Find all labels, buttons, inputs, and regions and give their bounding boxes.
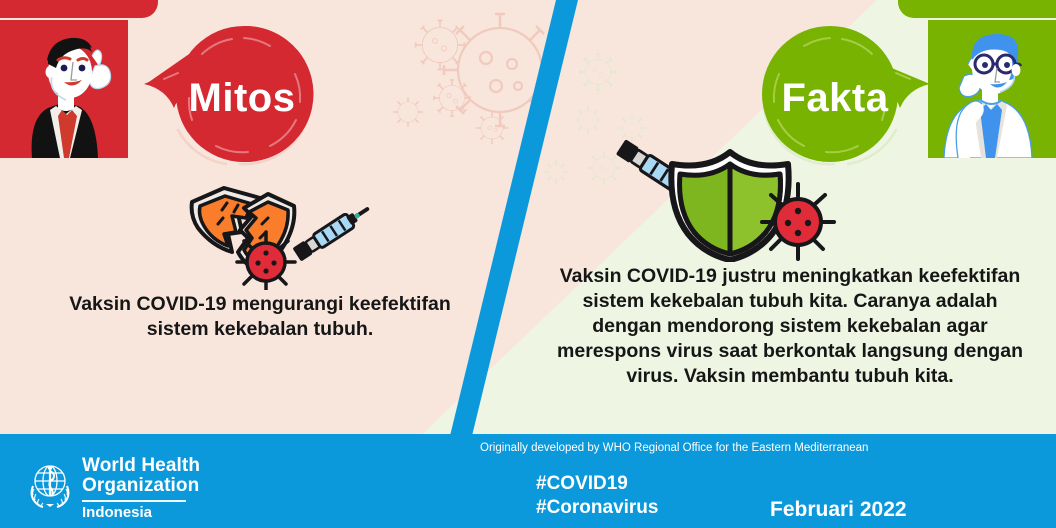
who-organization-name: World Health Organization: [82, 456, 200, 496]
man-pointing-up-illustration: [0, 20, 128, 158]
who-name-line1: World Health: [82, 456, 200, 476]
myth-character-panel: [0, 20, 128, 158]
who-country-label: Indonesia: [82, 504, 152, 521]
infographic-poster: Mitos Fakta: [0, 0, 1056, 528]
fact-body-text: Vaksin COVID-19 justru meningkatkan keef…: [556, 264, 1024, 389]
credit-line: Originally developed by WHO Regional Off…: [480, 442, 868, 454]
hashtag-coronavirus: #Coronavirus: [536, 496, 658, 520]
top-tab-left: [0, 0, 158, 18]
who-logo-divider: [82, 500, 186, 502]
myth-speech-bubble: Mitos: [140, 22, 320, 172]
footer-bar: World Health Organization Indonesia Orig…: [0, 434, 1056, 528]
myth-body-text: Vaksin COVID-19 mengurangi keefektifan s…: [58, 292, 462, 342]
fact-character-panel: [928, 20, 1056, 158]
who-emblem-icon: [22, 456, 78, 512]
who-name-line2: Organization: [82, 476, 200, 496]
hashtag-block: #COVID19 #Coronavirus: [536, 472, 658, 520]
intact-shield-virus-syringe-illustration: [602, 122, 862, 262]
fact-label: Fakta: [742, 76, 928, 121]
myth-label: Mitos: [152, 76, 332, 121]
publication-date: Februari 2022: [770, 498, 907, 522]
hashtag-covid19: #COVID19: [536, 472, 658, 496]
top-tab-right: [898, 0, 1056, 18]
doctor-pointing-up-illustration: [928, 20, 1056, 158]
broken-shield-virus-syringe-illustration: [182, 180, 382, 290]
